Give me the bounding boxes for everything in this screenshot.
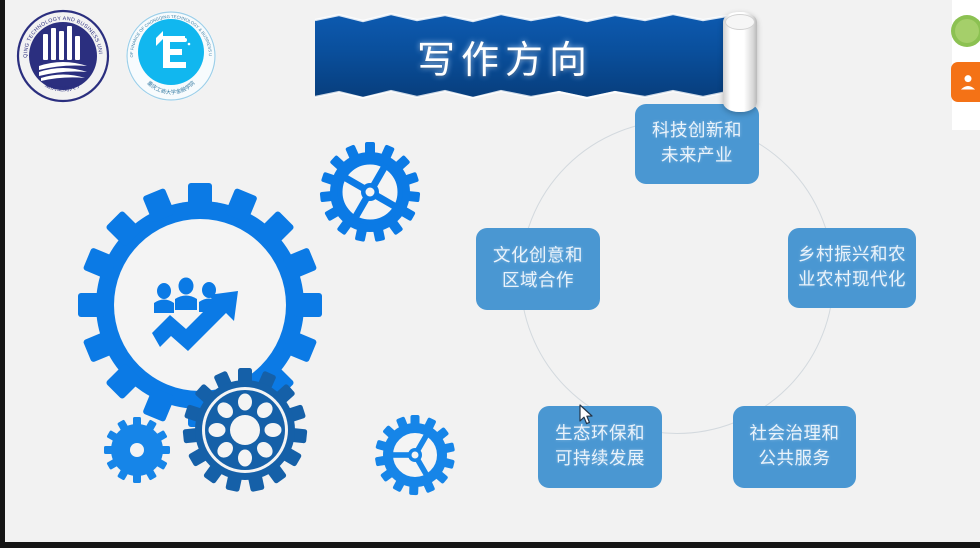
floating-action-rail [952, 0, 980, 130]
college-of-finance-logo: COLLEGE OF FINANCE OF CHONGQING TECHNOLO… [123, 8, 219, 104]
letterbox-bottom [0, 542, 980, 548]
contact-icon[interactable] [951, 62, 980, 102]
small-spoked-gear-top [320, 142, 420, 242]
presentation-slide: CHONGQING TECHNOLOGY AND BUSINESS UNIVER… [5, 0, 980, 542]
diagram-node-bottom-left[interactable]: 生态环保和可持续发展 [538, 406, 662, 488]
dark-gear [183, 368, 308, 492]
writing-directions-diagram: 科技创新和未来产业 乡村振兴和农业农村现代化 社会治理和公共服务 生态环保和可持… [460, 100, 930, 510]
ctbu-university-logo: CHONGQING TECHNOLOGY AND BUSINESS UNIVER… [13, 6, 113, 106]
diagram-node-left[interactable]: 文化创意和区域合作 [476, 228, 600, 310]
page-title: 写作方向 [305, 4, 705, 109]
mouse-cursor [579, 404, 595, 426]
diagram-node-right[interactable]: 乡村振兴和农业农村现代化 [788, 228, 916, 308]
heart-icon[interactable] [950, 14, 980, 48]
screenshot-stage: CHONGQING TECHNOLOGY AND BUSINESS UNIVER… [0, 0, 980, 548]
gear-illustration [65, 130, 485, 510]
small-spoked-gear-bottom [375, 415, 455, 495]
diagram-node-top[interactable]: 科技创新和未来产业 [635, 104, 759, 184]
paper-roll-icon [723, 12, 757, 112]
letterbox-left [0, 0, 5, 548]
diagram-node-bottom-right[interactable]: 社会治理和公共服务 [733, 406, 856, 488]
tiny-gear [104, 417, 170, 483]
